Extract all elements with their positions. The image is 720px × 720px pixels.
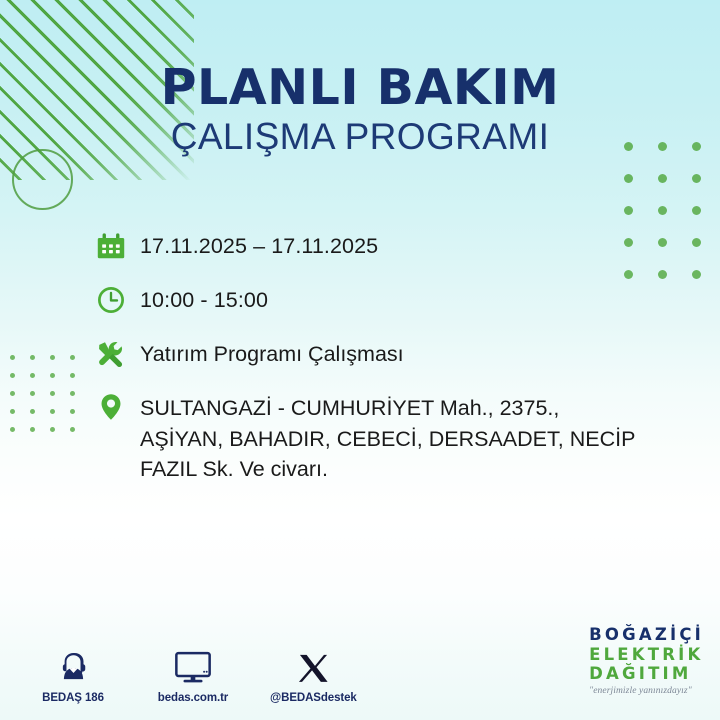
- title-subtitle: ÇALIŞMA PROGRAMI: [0, 117, 720, 158]
- location-pin-icon: [96, 390, 140, 424]
- x-twitter-icon: [270, 643, 356, 685]
- clock-icon: [96, 282, 140, 318]
- detail-row-date: 17.11.2025 – 17.11.2025: [96, 228, 686, 264]
- brand-line-3: DAĞITIM: [589, 666, 704, 683]
- footer-contacts: BEDAŞ 186 bedas.com.tr @BEDASdestek: [30, 643, 356, 704]
- calendar-icon: [96, 228, 140, 264]
- planned-maintenance-poster: PLANLI BAKIM ÇALIŞMA PROGRAMI: [0, 0, 720, 720]
- title-main: PLANLI BAKIM: [0, 62, 720, 113]
- circle-outline-decoration: [12, 149, 73, 210]
- date-range-text: 17.11.2025 – 17.11.2025: [140, 228, 378, 262]
- page-title: PLANLI BAKIM ÇALIŞMA PROGRAMI: [0, 62, 720, 158]
- detail-row-location: SULTANGAZİ - CUMHURİYET Mah., 2375., AŞİ…: [96, 390, 686, 485]
- detail-row-work-type: Yatırım Programı Çalışması: [96, 336, 686, 372]
- brand-line-2: ELEKTRİK: [589, 647, 704, 664]
- detail-row-time: 10:00 - 15:00: [96, 282, 686, 318]
- tools-icon: [96, 336, 140, 372]
- contact-phone[interactable]: BEDAŞ 186: [30, 643, 116, 704]
- work-type-text: Yatırım Programı Çalışması: [140, 336, 404, 370]
- monitor-icon: [150, 643, 236, 685]
- brand-tagline: "enerjimizle yanınızdayız": [589, 687, 704, 697]
- maintenance-details: 17.11.2025 – 17.11.2025 10:00 - 15:00 Ya…: [96, 228, 686, 485]
- brand-line-1: BOĞAZİÇİ: [589, 627, 704, 644]
- dot-grid-left-decoration: [10, 355, 90, 445]
- contact-phone-label: BEDAŞ 186: [30, 692, 116, 704]
- contact-social[interactable]: @BEDASdestek: [270, 643, 356, 704]
- contact-social-label: @BEDASdestek: [270, 692, 356, 704]
- contact-website[interactable]: bedas.com.tr: [150, 643, 236, 704]
- contact-website-label: bedas.com.tr: [150, 692, 236, 704]
- time-range-text: 10:00 - 15:00: [140, 282, 268, 316]
- headset-operator-icon: [30, 643, 116, 685]
- location-text: SULTANGAZİ - CUMHURİYET Mah., 2375., AŞİ…: [140, 390, 640, 485]
- brand-logo: BOĞAZİÇİ ELEKTRİK DAĞITIM "enerjimizle y…: [589, 627, 704, 696]
